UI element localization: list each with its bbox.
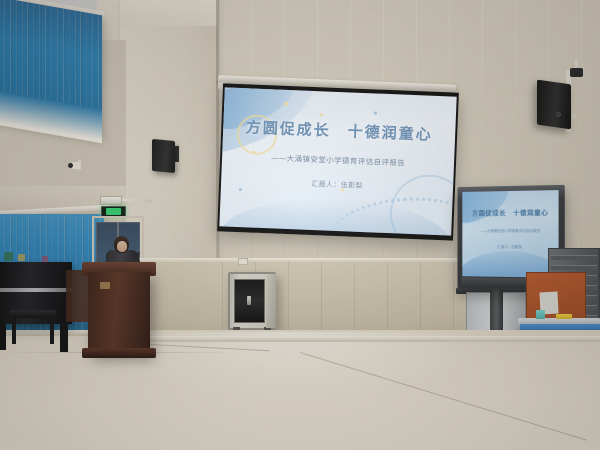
tv-screen-surface: 方圆促成长 十德润童心 ——大涌镇安堂小学德育评估自评报告 汇报人：伍影梨 <box>462 190 558 278</box>
wall-speaker-left <box>152 139 175 173</box>
podium-base <box>82 348 156 358</box>
presenter-face <box>117 241 127 252</box>
piano-leg <box>0 322 6 350</box>
bench-leg <box>12 318 16 344</box>
tv-slide-subtitle: ——大涌镇安堂小学德育评估自评报告 <box>462 229 558 234</box>
tv-slide-presenter: 汇报人：伍影梨 <box>462 245 558 250</box>
security-camera-left-icon <box>72 162 81 169</box>
piano-top-item <box>42 256 48 262</box>
exit-running-man-icon <box>106 208 121 215</box>
piano-keyboard-lid <box>0 288 72 292</box>
case-handle <box>247 296 251 305</box>
column-edge-shadow <box>216 0 219 300</box>
wall-power-socket <box>238 258 248 265</box>
baseboard <box>120 336 600 342</box>
projection-screen-border: 方圆促成长 十德润童心 ——大涌镇安堂小学德育评估自评报告 汇报人：伍影梨 <box>217 83 459 240</box>
emergency-light <box>100 196 122 205</box>
projection-screen: 方圆促成长 十德润童心 ——大涌镇安堂小学德育评估自评报告 汇报人：伍影梨 <box>217 83 459 240</box>
piano-leg <box>60 322 68 352</box>
slide-presenter: 汇报人：伍影梨 <box>311 179 363 191</box>
wall-speaker-right <box>537 80 571 130</box>
tv-slide-title: 方圆促成长 十德润童心 <box>462 206 558 217</box>
slide-text-block: 方圆促成长 十德润童心 ——大涌镇安堂小学德育评估自评报告 汇报人：伍影梨 <box>219 87 456 235</box>
column-cap <box>120 0 218 26</box>
podium-emblem <box>100 282 110 289</box>
slide-subtitle: ——大涌镇安堂小学德育评估自评报告 <box>271 152 406 168</box>
speaker-right-driver <box>556 112 561 117</box>
yellow-tray <box>556 314 572 319</box>
auditorium-photo: 方圆促成长 十德润童心 ——大涌镇安堂小学德育评估自评报告 汇报人：伍影梨 方圆… <box>0 0 600 450</box>
bench-leg <box>50 318 54 344</box>
piano-bench <box>10 310 56 318</box>
side-cabinet <box>66 270 88 322</box>
teal-cup <box>536 310 545 319</box>
projection-screen-surface: 方圆促成长 十德润童心 ——大涌镇安堂小学德育评估自评报告 汇报人：伍影梨 <box>219 87 456 235</box>
piano-top-item <box>4 252 13 261</box>
slide-title: 方圆促成长 十德润童心 <box>245 116 433 144</box>
piano-top-item <box>18 254 25 261</box>
security-camera-right-icon <box>570 68 583 77</box>
floor-reflection-sheen <box>100 332 480 402</box>
podium-body <box>88 272 150 354</box>
case-side-panel <box>266 274 276 328</box>
